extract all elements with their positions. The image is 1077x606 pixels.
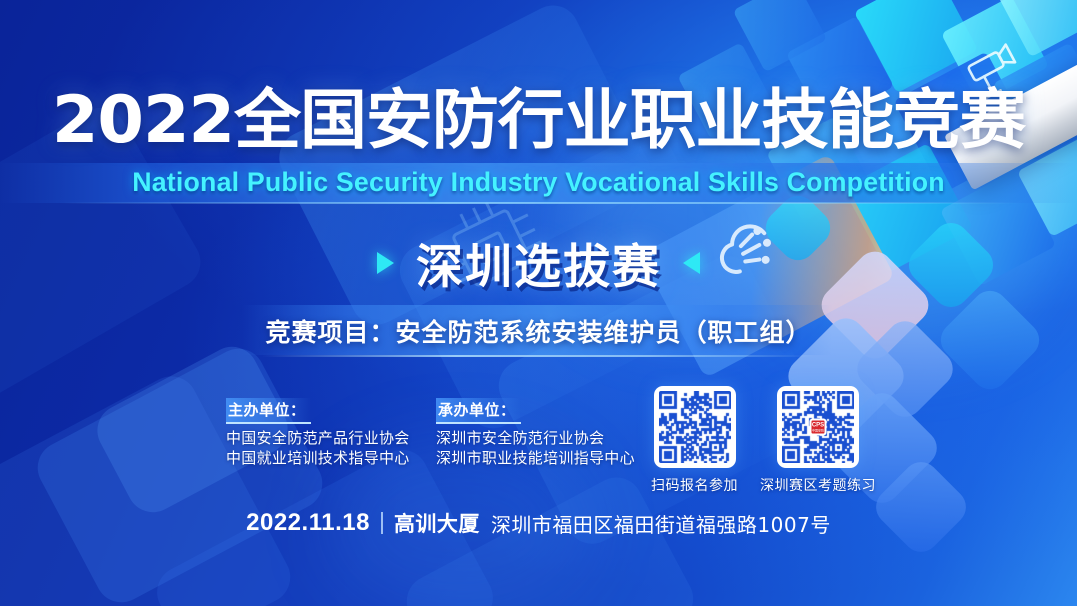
organizer-block-co-host: 承办单位： 深圳市安全防范行业协会 深圳市职业技能培训指导中心: [436, 398, 635, 468]
footer-info: 2022.11.18 高训大厦 深圳市福田区福田街道福强路1007号: [0, 508, 1077, 538]
footer-divider: [381, 512, 383, 534]
qr-code-signup-caption: 扫码报名参加: [651, 475, 738, 495]
qr-code-signup[interactable]: 扫码报名参加: [651, 386, 738, 495]
event-venue: 高训大厦: [394, 508, 480, 538]
organizer-host-line: 中国安全防范产品行业协会: [226, 428, 410, 448]
organizer-host-heading: 主办单位：: [226, 398, 311, 424]
cps-logo-text: CPS: [812, 422, 824, 428]
poster-canvas: 2022全国安防行业职业技能竞赛 National Public Securit…: [0, 0, 1077, 606]
subtitle-text: 深圳选拔赛: [416, 228, 661, 297]
qr-code-practice-caption: 深圳赛区考题练习: [760, 475, 876, 495]
page-title: 2022全国安防行业职业技能竞赛: [0, 88, 1077, 153]
project-text: 竞赛项目：安全防范系统安装维护员（职工组）: [265, 313, 811, 349]
event-date: 2022.11.18: [246, 509, 370, 537]
qr-code-signup-image: [659, 391, 731, 463]
page-title-english: National Public Security Industry Vocati…: [5, 167, 1071, 198]
organizer-co-host-heading: 承办单位：: [436, 398, 521, 424]
project-banner-underline: [262, 355, 814, 357]
organizer-block-host: 主办单位： 中国安全防范产品行业协会 中国就业培训技术指导中心: [226, 398, 410, 468]
qr-code-signup-frame[interactable]: [654, 386, 736, 468]
organizer-co-host-line: 深圳市职业技能培训指导中心: [436, 448, 635, 468]
qr-code-practice-frame[interactable]: CPS 中国安防: [777, 386, 859, 468]
poster-content: 2022全国安防行业职业技能竞赛 National Public Securit…: [0, 0, 1077, 606]
cps-logo-icon: CPS 中国安防: [810, 419, 827, 436]
event-address: 深圳市福田区福田街道福强路1007号: [491, 509, 831, 538]
subtitle-row: 深圳选拔赛: [0, 228, 1077, 297]
cps-logo-subtext: 中国安防: [812, 429, 824, 432]
organizer-co-host-line: 深圳市安全防范行业协会: [436, 428, 635, 448]
project-banner: 竞赛项目：安全防范系统安装维护员（职工组）: [0, 305, 1077, 357]
qr-code-group: 扫码报名参加 CPS 中国安防 深圳赛区考题练习: [651, 386, 876, 495]
qr-code-practice[interactable]: CPS 中国安防 深圳赛区考题练习: [760, 386, 876, 495]
organizer-host-line: 中国就业培训技术指导中心: [226, 448, 410, 468]
arrow-right-icon: [377, 252, 394, 274]
arrow-left-icon: [683, 252, 700, 274]
